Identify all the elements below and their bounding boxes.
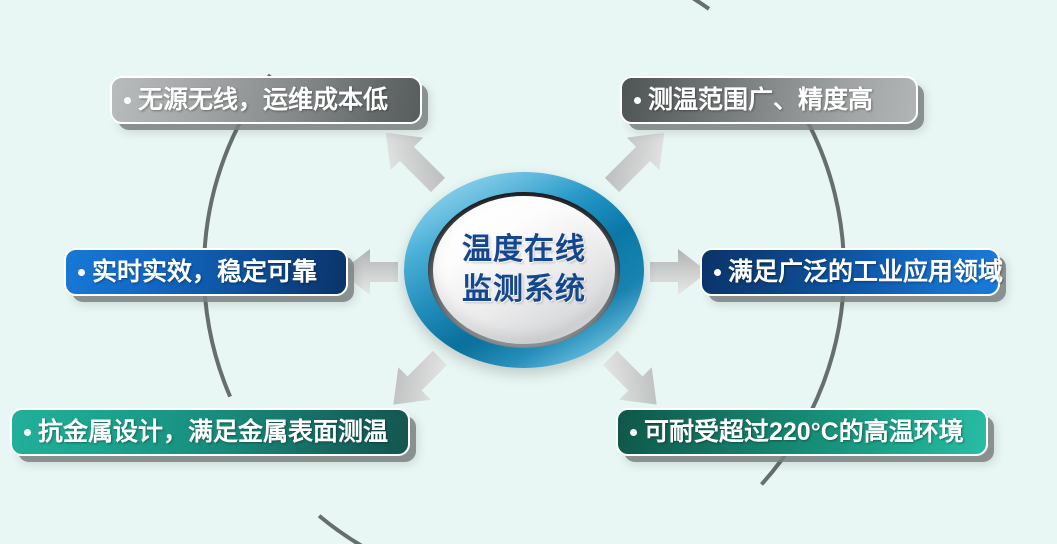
bullet-icon xyxy=(630,429,637,436)
label-bottom-right[interactable]: 可耐受超过220°C的高温环境 xyxy=(616,408,988,456)
arrow-left-icon xyxy=(340,249,398,295)
bullet-icon xyxy=(24,429,31,436)
label-top-left-text: 无源无线，运维成本低 xyxy=(138,88,388,113)
bullet-icon xyxy=(634,97,641,104)
label-top-right[interactable]: 测温范围广、精度高 xyxy=(620,76,918,124)
label-right-text: 满足广泛的工业应用领域 xyxy=(728,260,1003,285)
label-right[interactable]: 满足广泛的工业应用领域 xyxy=(700,248,1000,296)
label-bottom-right-text: 可耐受超过220°C的高温环境 xyxy=(644,420,964,445)
center-node[interactable]: 温度在线 监测系统 xyxy=(404,172,644,368)
label-bottom-left-text: 抗金属设计，满足金属表面测温 xyxy=(38,420,388,445)
bullet-icon xyxy=(78,269,85,276)
bullet-icon xyxy=(124,97,131,104)
diagram-canvas: 温度在线 监测系统 无源无线，运维成本低 测温范围广、精度高 实时实效，稳定可靠… xyxy=(0,0,1057,544)
center-ring-face: 温度在线 监测系统 xyxy=(433,196,615,344)
label-top-right-text: 测温范围广、精度高 xyxy=(648,88,873,113)
label-left-text: 实时实效，稳定可靠 xyxy=(92,260,317,285)
label-left[interactable]: 实时实效，稳定可靠 xyxy=(64,248,348,296)
center-title-line-1: 温度在线 xyxy=(462,230,586,270)
bullet-icon xyxy=(714,269,721,276)
center-title-line-2: 监测系统 xyxy=(462,270,586,310)
label-top-left[interactable]: 无源无线，运维成本低 xyxy=(110,76,422,124)
label-bottom-left[interactable]: 抗金属设计，满足金属表面测温 xyxy=(10,408,410,456)
